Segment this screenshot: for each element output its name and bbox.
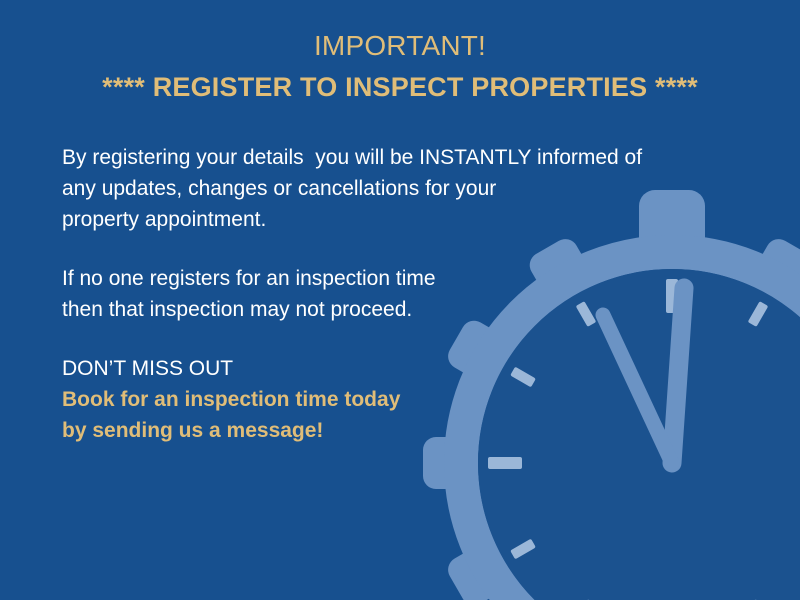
paragraph1-line2: any updates, changes or cancellations fo… xyxy=(62,173,722,204)
paragraph-no-registration-warning: If no one registers for an inspection ti… xyxy=(62,263,722,325)
body-copy: By registering your details you will be … xyxy=(62,142,722,446)
cta-send-message: by sending us a message! xyxy=(62,415,722,446)
cta-dont-miss-out: DON’T MISS OUT xyxy=(62,353,722,384)
headline-block: IMPORTANT! **** REGISTER TO INSPECT PROP… xyxy=(0,28,800,106)
paragraph1-line1: By registering your details you will be … xyxy=(62,142,722,173)
promo-slide: IMPORTANT! **** REGISTER TO INSPECT PROP… xyxy=(0,0,800,600)
headline-important: IMPORTANT! xyxy=(0,28,800,64)
cta-book-inspection: Book for an inspection time today xyxy=(62,384,722,415)
paragraph2-line2: then that inspection may not proceed. xyxy=(62,294,722,325)
paragraph-registering-benefits: By registering your details you will be … xyxy=(62,142,722,235)
headline-register: **** REGISTER TO INSPECT PROPERTIES **** xyxy=(0,68,800,106)
paragraph1-line3: property appointment. xyxy=(62,204,722,235)
call-to-action-block: DON’T MISS OUT Book for an inspection ti… xyxy=(62,353,722,446)
paragraph2-line1: If no one registers for an inspection ti… xyxy=(62,263,722,294)
